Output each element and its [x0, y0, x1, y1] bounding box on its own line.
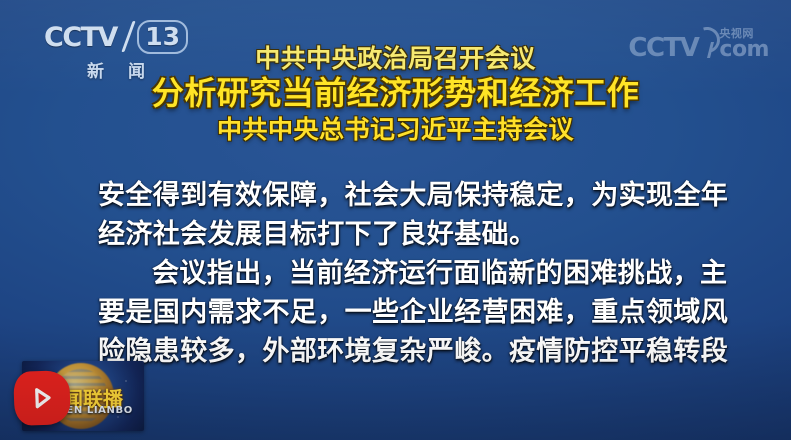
- subtitle-line: 会议指出，当前经济运行面临新的困难挑战，主: [98, 254, 698, 293]
- subtitle-line: 险隐患较多，外部环境复杂严峻。疫情防控平稳转段: [98, 332, 698, 371]
- headline-line-1: 中共中央政治局召开会议: [0, 44, 791, 73]
- play-icon: [29, 385, 56, 412]
- headline-block: 中共中央政治局召开会议 分析研究当前经济形势和经济工作 中共中央总书记习近平主持…: [0, 44, 791, 144]
- play-button[interactable]: [13, 370, 71, 426]
- tv-broadcast-frame: CCTV 13 新 闻 CCTV 央视网 com 中共中央政治局召开会议 分析研…: [0, 0, 791, 440]
- subtitle-line: 经济社会发展目标打下了良好基础。: [98, 215, 698, 254]
- subtitle-line: 安全得到有效保障，社会大局保持稳定，为实现全年: [98, 176, 698, 215]
- headline-line-2: 分析研究当前经济形势和经济工作: [0, 75, 791, 112]
- subtitle-paragraph: 安全得到有效保障，社会大局保持稳定，为实现全年 经济社会发展目标打下了良好基础。…: [98, 176, 698, 371]
- subtitle-line: 要是国内需求不足，一些企业经营困难，重点领域风: [98, 293, 698, 332]
- headline-line-3: 中共中央总书记习近平主持会议: [0, 115, 791, 144]
